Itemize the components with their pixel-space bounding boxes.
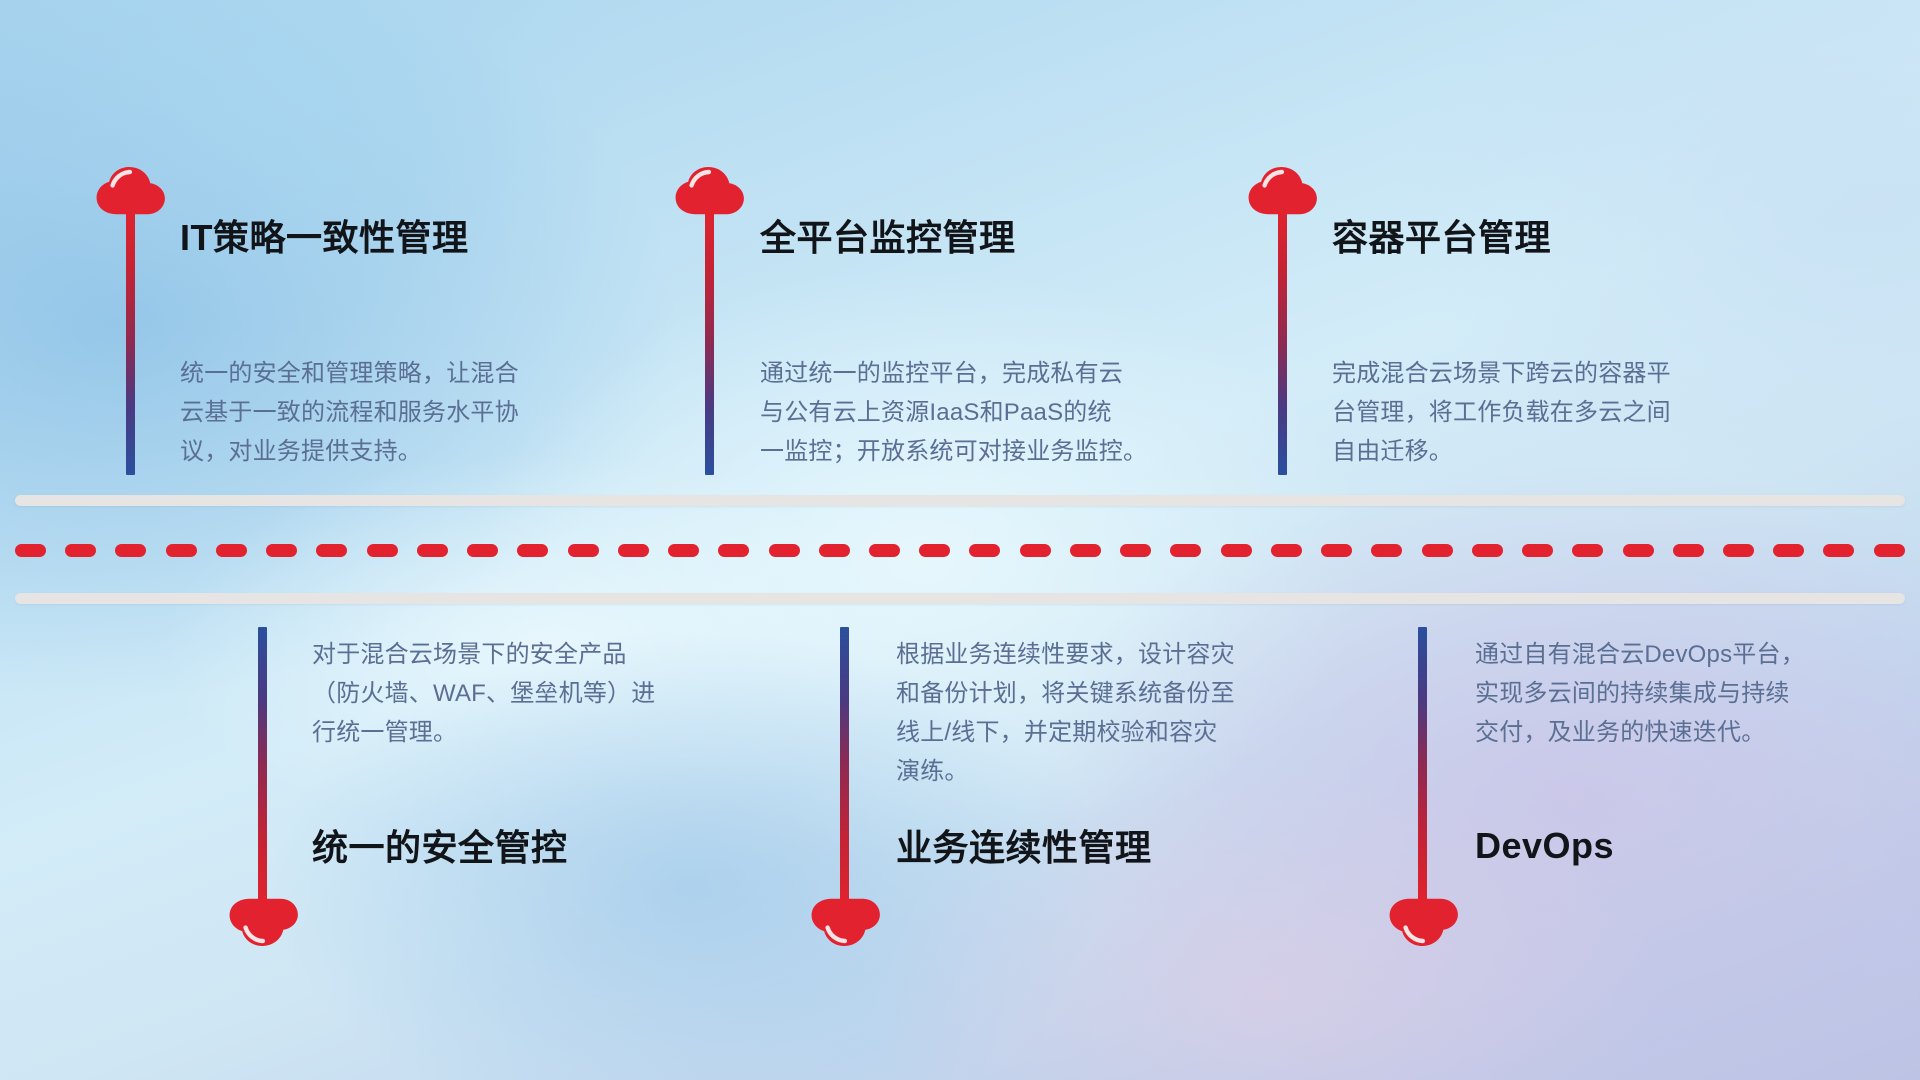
divider-dash [1823, 544, 1854, 557]
cloud-icon [1388, 898, 1460, 950]
divider-dash [316, 544, 347, 557]
pin-item-devops[interactable]: 通过自有混合云DevOps平台， 实现多云间的持续集成与持续 交付，及业务的快速… [0, 0, 640, 480]
divider-dash [15, 544, 46, 557]
divider-dash [919, 544, 950, 557]
pin-body-text: 对于混合云场景下的安全产品 （防火墙、WAF、堡垒机等）进 行统一管理。 [312, 636, 752, 753]
divider-dash [65, 544, 96, 557]
divider-dash [718, 544, 749, 557]
divider-dash [166, 544, 197, 557]
divider-dash [1472, 544, 1503, 557]
pin-title: DevOps [1475, 826, 1614, 866]
divider-dash [618, 544, 649, 557]
divider-dash [1070, 544, 1101, 557]
divider-line-upper [15, 495, 1905, 506]
divider-dash [819, 544, 850, 557]
cloud-icon [1247, 163, 1319, 215]
cloud-icon [810, 898, 882, 950]
connector-stem [705, 210, 714, 475]
divider-dash [1271, 544, 1302, 557]
pin-body-text: 通过统一的监控平台，完成私有云 与公有云上资源IaaS和PaaS的统 一监控；开… [760, 355, 1230, 472]
pin-title: 统一的安全管控 [312, 828, 568, 868]
cloud-icon [674, 163, 746, 215]
divider-dash [517, 544, 548, 557]
divider-dash [266, 544, 297, 557]
connector-stem [258, 627, 267, 902]
pin-body-text: 完成混合云场景下跨云的容器平 台管理，将工作负载在多云之间 自由迁移。 [1332, 355, 1782, 472]
connector-stem [1418, 627, 1427, 902]
divider-dash [1170, 544, 1201, 557]
divider-dash [216, 544, 247, 557]
infographic-canvas: IT策略一致性管理 统一的安全和管理策略，让混合 云基于一致的流程和服务水平协 … [0, 0, 1920, 1080]
pin-body-text: 根据业务连续性要求，设计容灾 和备份计划，将关键系统备份至 线上/线下，并定期校… [896, 636, 1336, 792]
divider-dash [869, 544, 900, 557]
divider-line-lower [15, 593, 1905, 604]
divider-dash [1572, 544, 1603, 557]
pin-body-text: 通过自有混合云DevOps平台， 实现多云间的持续集成与持续 交付，及业务的快速… [1475, 636, 1895, 753]
connector-stem [1278, 210, 1287, 475]
divider-dash [115, 544, 146, 557]
divider-dash [417, 544, 448, 557]
divider-dash [1623, 544, 1654, 557]
divider-dash [1371, 544, 1402, 557]
divider-dash [1773, 544, 1804, 557]
divider-dash [1020, 544, 1051, 557]
divider-dash [568, 544, 599, 557]
connector-stem [840, 627, 849, 902]
divider-dash [769, 544, 800, 557]
divider-dash [668, 544, 699, 557]
divider-dash [1874, 544, 1905, 557]
divider-dash [969, 544, 1000, 557]
divider-dash [1723, 544, 1754, 557]
divider-dash [1522, 544, 1553, 557]
cloud-icon [228, 898, 300, 950]
divider-dash [1120, 544, 1151, 557]
divider-dash [467, 544, 498, 557]
divider-dash [1673, 544, 1704, 557]
divider-dash [1221, 544, 1252, 557]
divider-dashed-line [15, 544, 1905, 557]
divider-dash [367, 544, 398, 557]
pin-title: 容器平台管理 [1332, 218, 1551, 258]
pin-title: 全平台监控管理 [760, 218, 1016, 258]
pin-title: 业务连续性管理 [896, 828, 1152, 868]
divider-dash [1422, 544, 1453, 557]
divider-dash [1321, 544, 1352, 557]
